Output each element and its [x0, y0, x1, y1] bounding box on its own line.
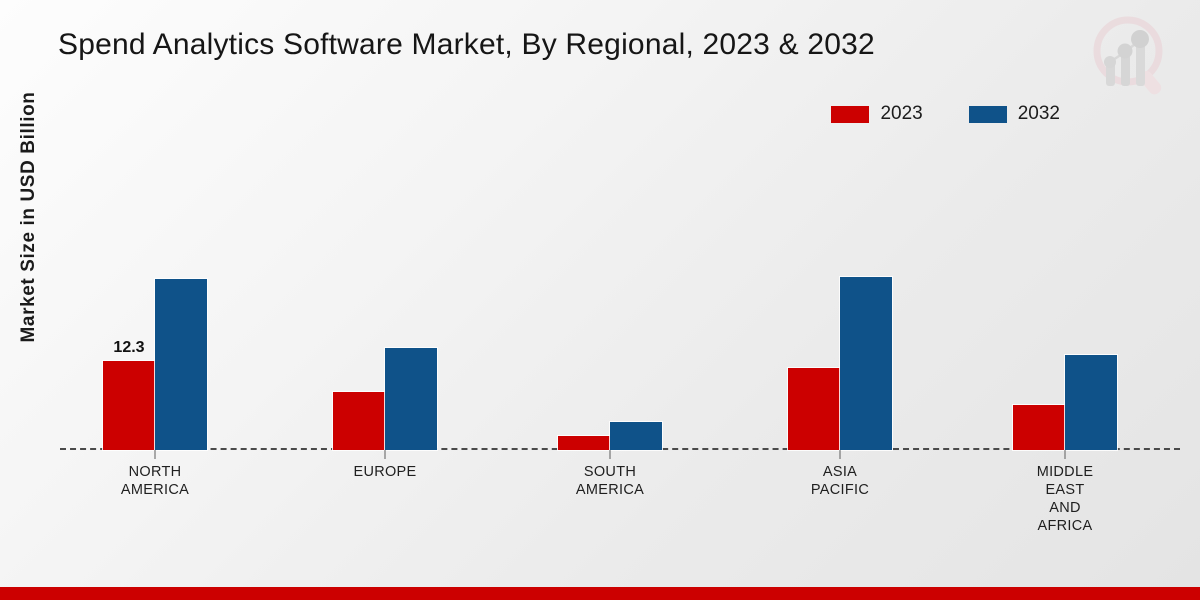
category-label-line: PACIFIC [765, 481, 915, 499]
bar-group: SOUTHAMERICA [550, 150, 670, 450]
market-research-magnifier-icon [1082, 10, 1182, 102]
legend-item-2032[interactable]: 2032 [969, 103, 1060, 125]
y-axis-title: Market Size in USD Billion [18, 52, 40, 382]
chart-legend: 2023 2032 [831, 103, 1060, 125]
category-label-line: SOUTH [535, 463, 685, 481]
axis-tick [840, 450, 841, 459]
category-label-line: EUROPE [310, 463, 460, 481]
category-label-line: MIDDLE [990, 463, 1140, 481]
category-label-line: NORTH [80, 463, 230, 481]
legend-swatch-red [831, 106, 869, 123]
bar-2032-middle-east-and-africa[interactable] [1065, 355, 1117, 450]
axis-tick [385, 450, 386, 459]
bar-group: EUROPE [325, 150, 445, 450]
category-label-line: AND [990, 499, 1140, 517]
bar-2032-south-america[interactable] [610, 422, 662, 450]
bar-2023-asia-pacific[interactable] [788, 368, 840, 450]
bar-2023-south-america[interactable] [558, 436, 610, 450]
bar-2023-middle-east-and-africa[interactable] [1013, 405, 1065, 450]
bar-2023-europe[interactable] [333, 392, 385, 450]
axis-tick [1065, 450, 1066, 459]
x-axis-category-label: EUROPE [310, 463, 460, 481]
bar-2032-north-america[interactable] [155, 279, 207, 450]
bar-group: 12.3NORTHAMERICA [95, 150, 215, 450]
legend-label-2032: 2032 [1018, 103, 1060, 125]
bar-group: MIDDLEEASTANDAFRICA [1005, 150, 1125, 450]
bar-pair [1013, 150, 1117, 450]
x-axis-category-label: NORTHAMERICA [80, 463, 230, 499]
category-label-line: ASIA [765, 463, 915, 481]
bar-pair [788, 150, 892, 450]
bar-2032-europe[interactable] [385, 348, 437, 450]
bar-pair [558, 150, 662, 450]
bar-pair [333, 150, 437, 450]
category-label-line: EAST [990, 481, 1140, 499]
category-label-line: AFRICA [990, 517, 1140, 535]
legend-swatch-blue [969, 106, 1007, 123]
x-axis-category-label: MIDDLEEASTANDAFRICA [990, 463, 1140, 535]
chart-page: Spend Analytics Software Market, By Regi… [0, 0, 1200, 600]
plot-area: 12.3NORTHAMERICAEUROPESOUTHAMERICAASIAPA… [60, 150, 1180, 450]
category-label-line: AMERICA [535, 481, 685, 499]
bar-2032-asia-pacific[interactable] [840, 277, 892, 450]
bar-pair: 12.3 [103, 150, 207, 450]
x-axis-category-label: SOUTHAMERICA [535, 463, 685, 499]
legend-label-2023: 2023 [880, 103, 922, 125]
x-axis-category-label: ASIAPACIFIC [765, 463, 915, 499]
bar-group: ASIAPACIFIC [780, 150, 900, 450]
axis-tick [155, 450, 156, 459]
axis-tick [610, 450, 611, 459]
bar-2023-north-america[interactable]: 12.3 [103, 361, 155, 450]
chart-title: Spend Analytics Software Market, By Regi… [58, 28, 875, 62]
bottom-accent-band [0, 587, 1200, 600]
category-label-line: AMERICA [80, 481, 230, 499]
bar-value-label: 12.3 [103, 339, 155, 357]
legend-item-2023[interactable]: 2023 [831, 103, 922, 125]
